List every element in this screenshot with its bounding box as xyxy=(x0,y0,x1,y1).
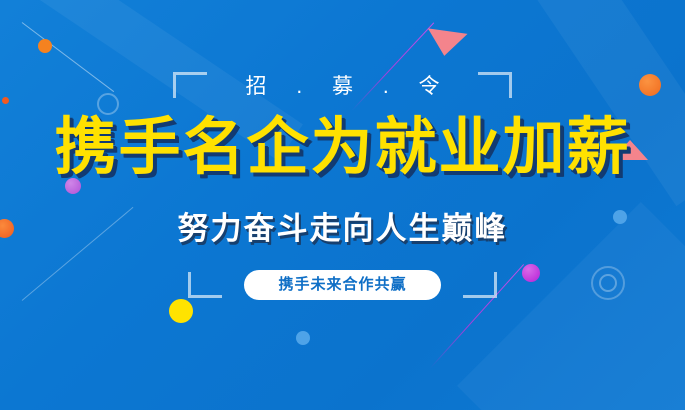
bracket-bottom-left-icon xyxy=(188,272,222,298)
bracket-bottom-right-icon xyxy=(463,272,497,298)
bracket-top-left-icon xyxy=(173,72,207,98)
subheadline: 努力奋斗走向人生巅峰 xyxy=(0,203,685,248)
kicker-row: 招 . 募 . 令 xyxy=(0,62,685,108)
kicker-text: 招 . 募 . 令 xyxy=(233,70,451,100)
banner-content: 招 . 募 . 令 携手名企为就业加薪 努力奋斗走向人生巅峰 携手未来合作共赢 xyxy=(0,0,685,410)
cta-button[interactable]: 携手未来合作共赢 xyxy=(244,270,440,300)
cta-row: 携手未来合作共赢 xyxy=(0,268,685,302)
bracket-top-right-icon xyxy=(478,72,512,98)
recruitment-banner: 招 . 募 . 令 携手名企为就业加薪 努力奋斗走向人生巅峰 携手未来合作共赢 xyxy=(0,0,685,410)
headline: 携手名企为就业加薪 xyxy=(0,113,685,182)
